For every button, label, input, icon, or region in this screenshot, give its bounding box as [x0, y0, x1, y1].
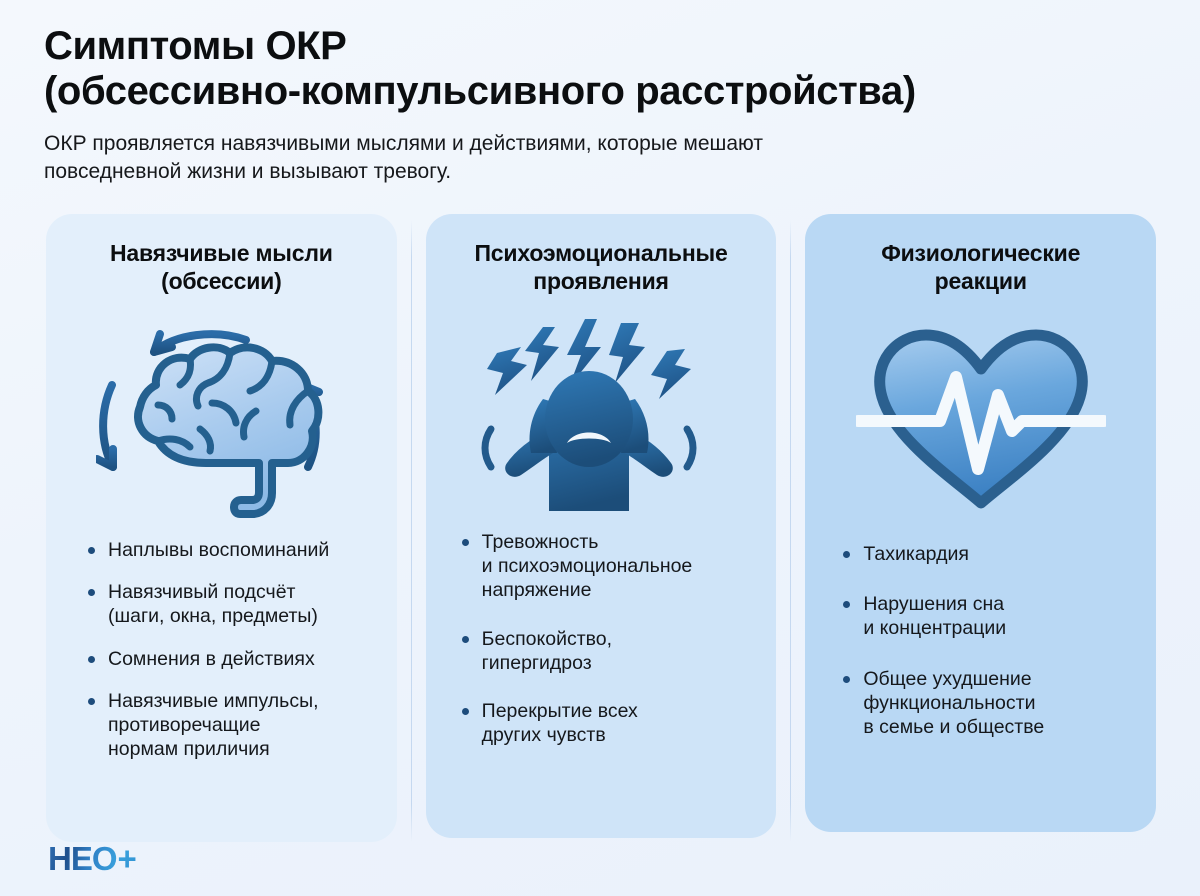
bullet-list: Тревожность и психоэмоциональное напряже… — [448, 530, 755, 771]
logo-wordmark: НЕО — [48, 842, 117, 875]
logo-plus-icon: + — [118, 842, 137, 875]
header: Симптомы ОКР (обсессивно-компульсивного … — [0, 0, 1200, 186]
infographic-page: Симптомы ОКР (обсессивно-компульсивного … — [0, 0, 1200, 896]
list-item: Беспокойство, гипергидроз — [460, 627, 755, 675]
brain-cycle-icon — [68, 302, 375, 532]
list-item: Перекрытие всех других чувств — [460, 699, 755, 747]
list-item: Навязчивый подсчёт (шаги, окна, предметы… — [86, 580, 375, 628]
list-item: Тревожность и психоэмоциональное напряже… — [460, 530, 755, 603]
bullet-list: Наплывы воспоминаний Навязчивый подсчёт … — [68, 538, 375, 779]
cards-row: Навязчивые мысли (обсессии) — [46, 214, 1156, 842]
list-item: Сомнения в действиях — [86, 647, 375, 671]
card-psychoemotional: Психоэмоциональные проявления — [426, 214, 777, 838]
card-title: Навязчивые мысли (обсессии) — [68, 240, 375, 298]
card-divider-2 — [790, 220, 791, 842]
list-item: Общее ухудшение функциональности в семье… — [841, 667, 1134, 740]
bullet-list: Тахикардия Нарушения сна и концентрации … — [827, 542, 1134, 765]
list-item: Тахикардия — [841, 542, 1134, 566]
card-title: Психоэмоциональные проявления — [448, 240, 755, 298]
page-subtitle: ОКР проявляется навязчивыми мыслями и де… — [44, 130, 1074, 186]
page-title: Симптомы ОКР (обсессивно-компульсивного … — [44, 24, 1160, 114]
stressed-person-icon — [448, 298, 755, 528]
card-title: Физиологические реакции — [827, 240, 1134, 298]
brand-logo: НЕО + — [48, 838, 137, 878]
list-item: Нарушения сна и концентрации — [841, 592, 1134, 640]
card-divider-1 — [411, 220, 412, 842]
card-obsessive-thoughts: Навязчивые мысли (обсессии) — [46, 214, 397, 842]
list-item: Наплывы воспоминаний — [86, 538, 375, 562]
list-item: Навязчивые импульсы, противоречащие норм… — [86, 689, 375, 762]
card-physiological: Физиологические реакции — [805, 214, 1156, 832]
heart-pulse-icon — [827, 306, 1134, 536]
